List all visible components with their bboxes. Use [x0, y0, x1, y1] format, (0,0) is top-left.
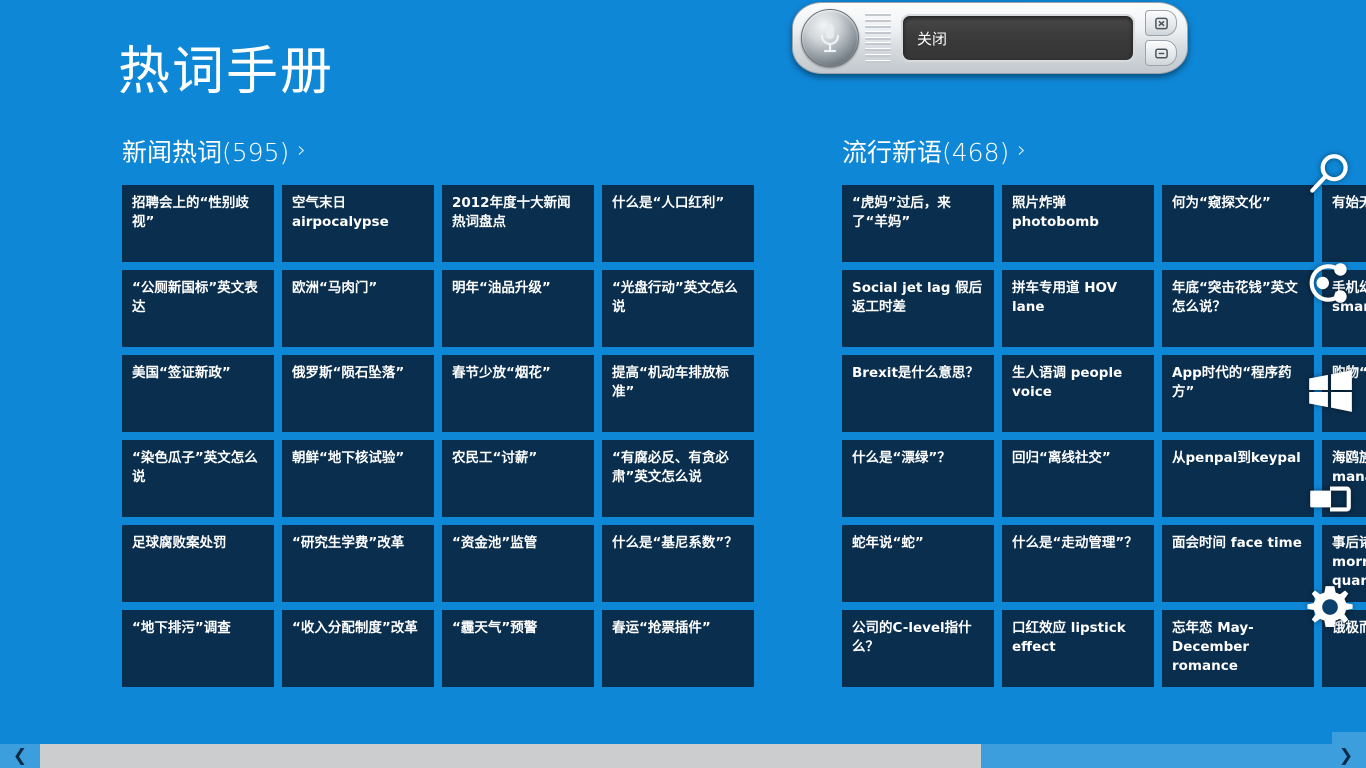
tile[interactable]: “收入分配制度”改革: [282, 610, 434, 687]
tile[interactable]: 什么是“漂绿”？: [842, 440, 994, 517]
chevron-right-icon: ›: [297, 138, 306, 163]
group-header-slang[interactable]: 流行新语(468) ›: [842, 133, 1314, 169]
tile-grid-news: 招聘会上的“性别歧视” “公厕新国标”英文表达 美国“签证新政” “染色瓜子”英…: [122, 185, 754, 687]
tile[interactable]: “霾天气”预警: [442, 610, 594, 687]
meter-bar: [865, 25, 891, 28]
meter-bar: [865, 48, 891, 51]
speech-status-text: 关闭: [917, 28, 947, 49]
group-header-label: 新闻热词(595): [122, 133, 289, 169]
tile[interactable]: “研究生学费”改革: [282, 525, 434, 602]
tile[interactable]: 回归“离线社交”: [1002, 440, 1154, 517]
app-canvas: 热词手册 新闻热词(595) › 招聘会上的“性别歧视” “公厕新国标”英文表达…: [0, 0, 1366, 768]
meter-bar: [865, 54, 891, 57]
tile[interactable]: “虎妈”过后，来了“羊妈”: [842, 185, 994, 262]
tile[interactable]: 什么是“人口红利”: [602, 185, 754, 262]
scroll-right-arrow[interactable]: ❯: [1326, 744, 1366, 768]
meter-bar: [865, 31, 891, 34]
window-buttons: [1145, 8, 1177, 68]
tile[interactable]: 春节少放“烟花”: [442, 355, 594, 432]
tile[interactable]: 何为“窥探文化”: [1162, 185, 1314, 262]
tile[interactable]: 公司的C-level指什么？: [842, 610, 994, 687]
tile[interactable]: 俄罗斯“陨石坠落”: [282, 355, 434, 432]
tile[interactable]: 提高“机动车排放标准”: [602, 355, 754, 432]
tile[interactable]: 从penpal到keypal: [1162, 440, 1314, 517]
tile[interactable]: “光盘行动”英文怎么说: [602, 270, 754, 347]
speech-recognition-toolbar[interactable]: 关闭: [792, 2, 1188, 74]
scrollbar-track[interactable]: [40, 744, 1326, 768]
tile[interactable]: “地下排污”调查: [122, 610, 274, 687]
tile-group-slang: 流行新语(468) › “虎妈”过后，来了“羊妈” Social jet lag…: [842, 133, 1314, 687]
tile[interactable]: 空气末日 airpocalypse: [282, 185, 434, 262]
tile[interactable]: “资金池”监管: [442, 525, 594, 602]
tile[interactable]: 农民工“讨薪”: [442, 440, 594, 517]
page-title: 热词手册: [118, 46, 334, 98]
group-header-news[interactable]: 新闻热词(595) ›: [122, 133, 754, 169]
speech-status-field[interactable]: 关闭: [901, 14, 1135, 62]
meter-bar: [865, 37, 891, 40]
tile[interactable]: 年底“突击花钱”英文怎么说？: [1162, 270, 1314, 347]
horizontal-scrollbar[interactable]: ❮ ❯: [0, 744, 1366, 768]
scrollbar-corner: [1332, 732, 1366, 744]
volume-meter: [865, 11, 891, 65]
tile[interactable]: 面会时间 face time: [1162, 525, 1314, 602]
tile[interactable]: 忘年恋 May-December romance: [1162, 610, 1314, 687]
tile[interactable]: 照片炸弹 photobomb: [1002, 185, 1154, 262]
meter-bar: [865, 13, 891, 16]
tile[interactable]: “公厕新国标”英文表达: [122, 270, 274, 347]
tile[interactable]: 2012年度十大新闻热词盘点: [442, 185, 594, 262]
tile[interactable]: 生人语调 people voice: [1002, 355, 1154, 432]
tile[interactable]: 欧洲“马肉门”: [282, 270, 434, 347]
meter-bar: [865, 19, 891, 22]
search-icon[interactable]: [1305, 150, 1355, 200]
minimize-icon[interactable]: [1145, 40, 1177, 66]
scroll-left-arrow[interactable]: ❮: [0, 744, 40, 768]
tile[interactable]: 蛇年说“蛇”: [842, 525, 994, 602]
tile[interactable]: 什么是“基尼系数”？: [602, 525, 754, 602]
tile[interactable]: Brexit是什么意思？: [842, 355, 994, 432]
tile[interactable]: 什么是“走动管理”？: [1002, 525, 1154, 602]
tile[interactable]: “有腐必反、有贪必肃”英文怎么说: [602, 440, 754, 517]
tile[interactable]: Social jet lag 假后返工时差: [842, 270, 994, 347]
tile[interactable]: “染色瓜子”英文怎么说: [122, 440, 274, 517]
microphone-icon[interactable]: [801, 9, 859, 67]
tile[interactable]: 美国“签证新政”: [122, 355, 274, 432]
share-icon[interactable]: [1305, 258, 1355, 308]
tile[interactable]: 拼车专用道 HOV lane: [1002, 270, 1154, 347]
gear-icon[interactable]: [1305, 582, 1355, 632]
tile[interactable]: 足球腐败案处罚: [122, 525, 274, 602]
chevron-right-icon: ›: [1017, 138, 1026, 163]
scrollbar-thumb[interactable]: [40, 744, 981, 768]
start-icon[interactable]: [1305, 366, 1355, 416]
close-icon[interactable]: [1145, 10, 1177, 36]
tile-group-news: 新闻热词(595) › 招聘会上的“性别歧视” “公厕新国标”英文表达 美国“签…: [122, 133, 754, 687]
tile-grid-slang: “虎妈”过后，来了“羊妈” Social jet lag 假后返工时差 Brex…: [842, 185, 1314, 687]
tile[interactable]: 招聘会上的“性别歧视”: [122, 185, 274, 262]
tile[interactable]: App时代的“程序药方”: [1162, 355, 1314, 432]
tile[interactable]: 朝鲜“地下核试验”: [282, 440, 434, 517]
tile[interactable]: 明年“油品升级”: [442, 270, 594, 347]
meter-bar: [865, 60, 891, 63]
tile[interactable]: 春运“抢票插件”: [602, 610, 754, 687]
group-header-label: 流行新语(468): [842, 133, 1009, 169]
meter-bar: [865, 42, 891, 45]
devices-icon[interactable]: [1305, 474, 1355, 524]
tile[interactable]: 口红效应 lipstick effect: [1002, 610, 1154, 687]
